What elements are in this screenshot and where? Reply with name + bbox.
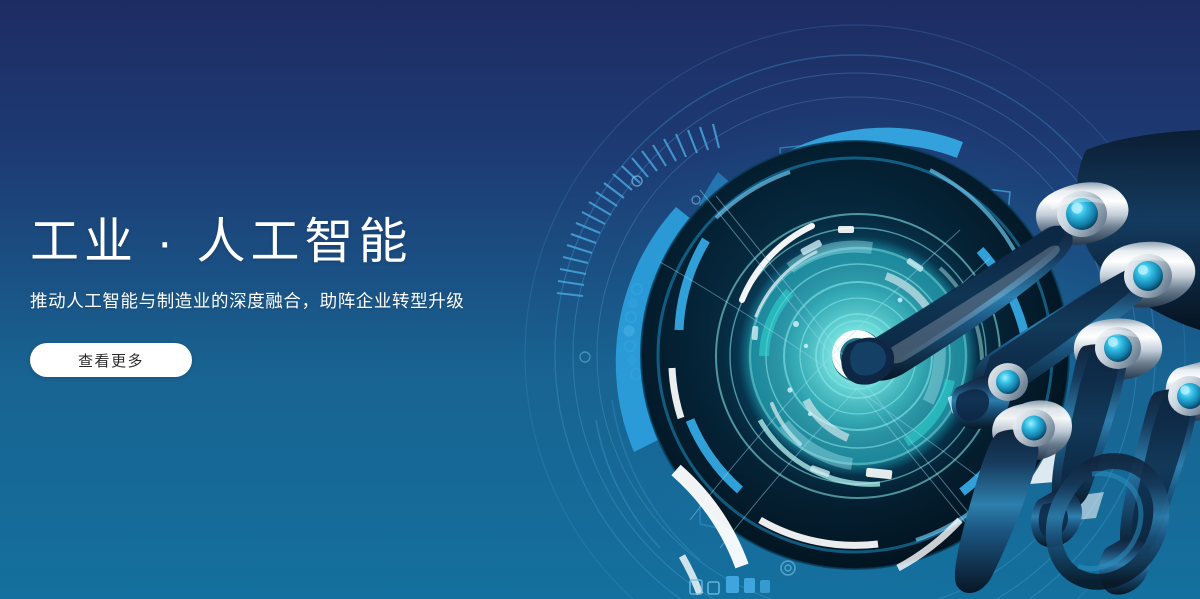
view-more-button[interactable]: 查看更多 xyxy=(30,343,192,377)
hero-copy: 工业 · 人工智能 推动人工智能与制造业的深度融合，助阵企业转型升级 查看更多 xyxy=(30,215,590,377)
hero-banner: 工业 · 人工智能 推动人工智能与制造业的深度融合，助阵企业转型升级 查看更多 xyxy=(0,0,1200,599)
page-subtitle: 推动人工智能与制造业的深度融合，助阵企业转型升级 xyxy=(30,288,590,314)
page-title: 工业 · 人工智能 xyxy=(30,215,590,270)
